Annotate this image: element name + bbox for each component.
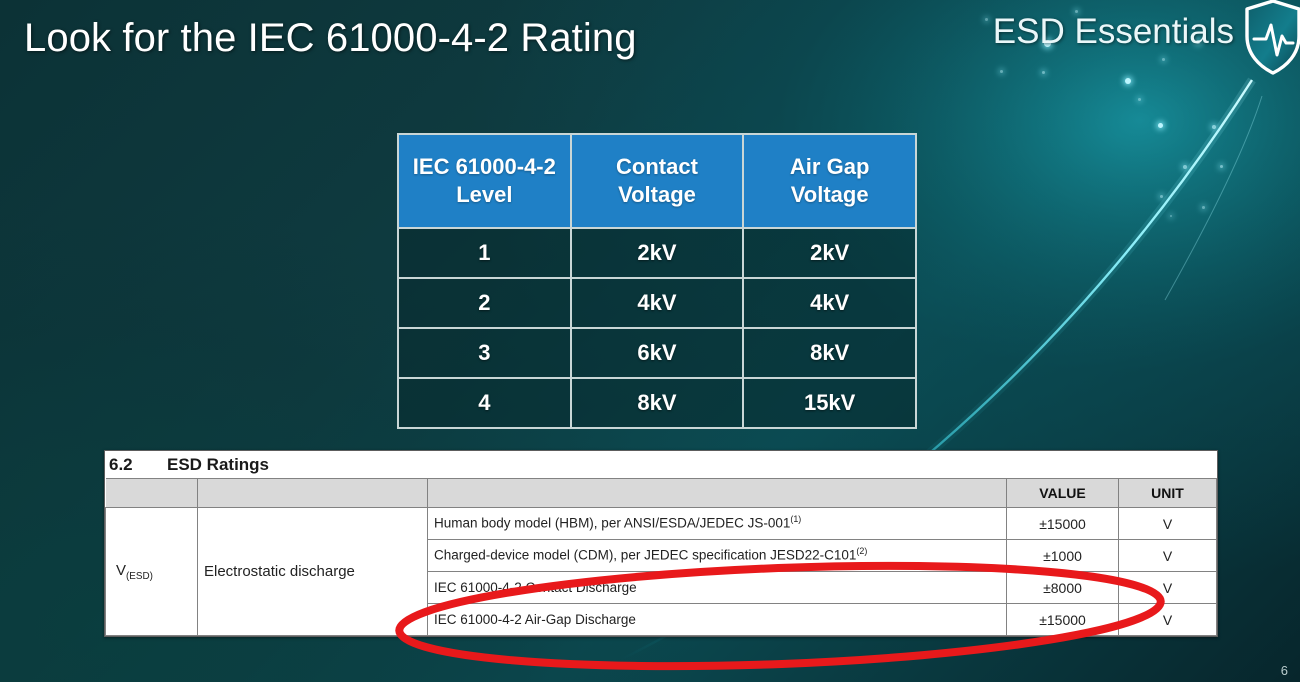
- table-row: 4 8kV 15kV: [398, 378, 916, 428]
- esd-ratings-table: VALUE UNIT V(ESD) Electrostatic discharg…: [105, 478, 1217, 636]
- table-row: V(ESD) Electrostatic discharge Human bod…: [106, 508, 1217, 540]
- cell-contact-voltage: 2kV: [571, 228, 744, 278]
- column-header-value: VALUE: [1007, 479, 1119, 508]
- description-text: Charged-device model (CDM), per JEDEC sp…: [434, 548, 856, 563]
- footnote-marker: (2): [856, 546, 867, 556]
- cell-level: 2: [398, 278, 571, 328]
- cell-description: Charged-device model (CDM), per JEDEC sp…: [428, 540, 1007, 572]
- column-header-contact-line2: Voltage: [618, 182, 696, 207]
- iec-level-table: IEC 61000-4-2 Level Contact Voltage Air …: [397, 133, 917, 429]
- table-row: 3 6kV 8kV: [398, 328, 916, 378]
- datasheet-header-row: VALUE UNIT: [106, 479, 1217, 508]
- cell-unit: V: [1119, 572, 1217, 604]
- cell-contact-voltage: 6kV: [571, 328, 744, 378]
- cell-description: Human body model (HBM), per ANSI/ESDA/JE…: [428, 508, 1007, 540]
- shield-ecg-icon: [1242, 0, 1300, 76]
- table-row: 2 4kV 4kV: [398, 278, 916, 328]
- cell-unit: V: [1119, 604, 1217, 636]
- cell-unit: V: [1119, 540, 1217, 572]
- column-header-level-line1: IEC 61000-4-2: [413, 154, 556, 179]
- cell-unit: V: [1119, 508, 1217, 540]
- cell-air-gap-voltage: 2kV: [743, 228, 916, 278]
- cell-contact-voltage: 4kV: [571, 278, 744, 328]
- section-title: ESD Ratings: [167, 455, 269, 475]
- slide-canvas: Look for the IEC 61000-4-2 Rating ESD Es…: [0, 0, 1300, 682]
- cell-level: 3: [398, 328, 571, 378]
- column-header-symbol: [106, 479, 198, 508]
- column-header-airgap-line1: Air Gap: [790, 154, 869, 179]
- cell-parameter: Electrostatic discharge: [198, 508, 428, 636]
- table-row: 1 2kV 2kV: [398, 228, 916, 278]
- description-text: Human body model (HBM), per ANSI/ESDA/JE…: [434, 516, 790, 531]
- cell-symbol: V(ESD): [106, 508, 198, 636]
- column-header-contact-line1: Contact: [616, 154, 698, 179]
- section-number: 6.2: [109, 455, 167, 475]
- cell-value: ±8000: [1007, 572, 1119, 604]
- cell-description: IEC 61000-4-2 Air-Gap Discharge: [428, 604, 1007, 636]
- column-header-unit: UNIT: [1119, 479, 1217, 508]
- column-header-level: IEC 61000-4-2 Level: [398, 134, 571, 228]
- cell-air-gap-voltage: 4kV: [743, 278, 916, 328]
- column-header-airgap-line2: Voltage: [791, 182, 869, 207]
- column-header-level-line2: Level: [456, 182, 512, 207]
- cell-contact-voltage: 8kV: [571, 378, 744, 428]
- footnote-marker: (1): [790, 514, 801, 524]
- page-number: 6: [1281, 663, 1288, 678]
- cell-level: 1: [398, 228, 571, 278]
- cell-value: ±15000: [1007, 604, 1119, 636]
- datasheet-excerpt: 6.2 ESD Ratings VALUE UNIT V(ESD) Electr: [104, 450, 1218, 637]
- table-header-row: IEC 61000-4-2 Level Contact Voltage Air …: [398, 134, 916, 228]
- datasheet-section-heading: 6.2 ESD Ratings: [105, 451, 1217, 478]
- cell-air-gap-voltage: 8kV: [743, 328, 916, 378]
- column-header-air-gap-voltage: Air Gap Voltage: [743, 134, 916, 228]
- column-header-description: [428, 479, 1007, 508]
- brand-label: ESD Essentials: [993, 12, 1234, 52]
- symbol-letter: V: [116, 562, 126, 579]
- cell-level: 4: [398, 378, 571, 428]
- column-header-contact-voltage: Contact Voltage: [571, 134, 744, 228]
- symbol-subscript: (ESD): [126, 571, 153, 582]
- cell-description: IEC 61000-4-2 Contact Discharge: [428, 572, 1007, 604]
- cell-value: ±1000: [1007, 540, 1119, 572]
- cell-air-gap-voltage: 15kV: [743, 378, 916, 428]
- page-title: Look for the IEC 61000-4-2 Rating: [24, 16, 637, 61]
- column-header-parameter: [198, 479, 428, 508]
- cell-value: ±15000: [1007, 508, 1119, 540]
